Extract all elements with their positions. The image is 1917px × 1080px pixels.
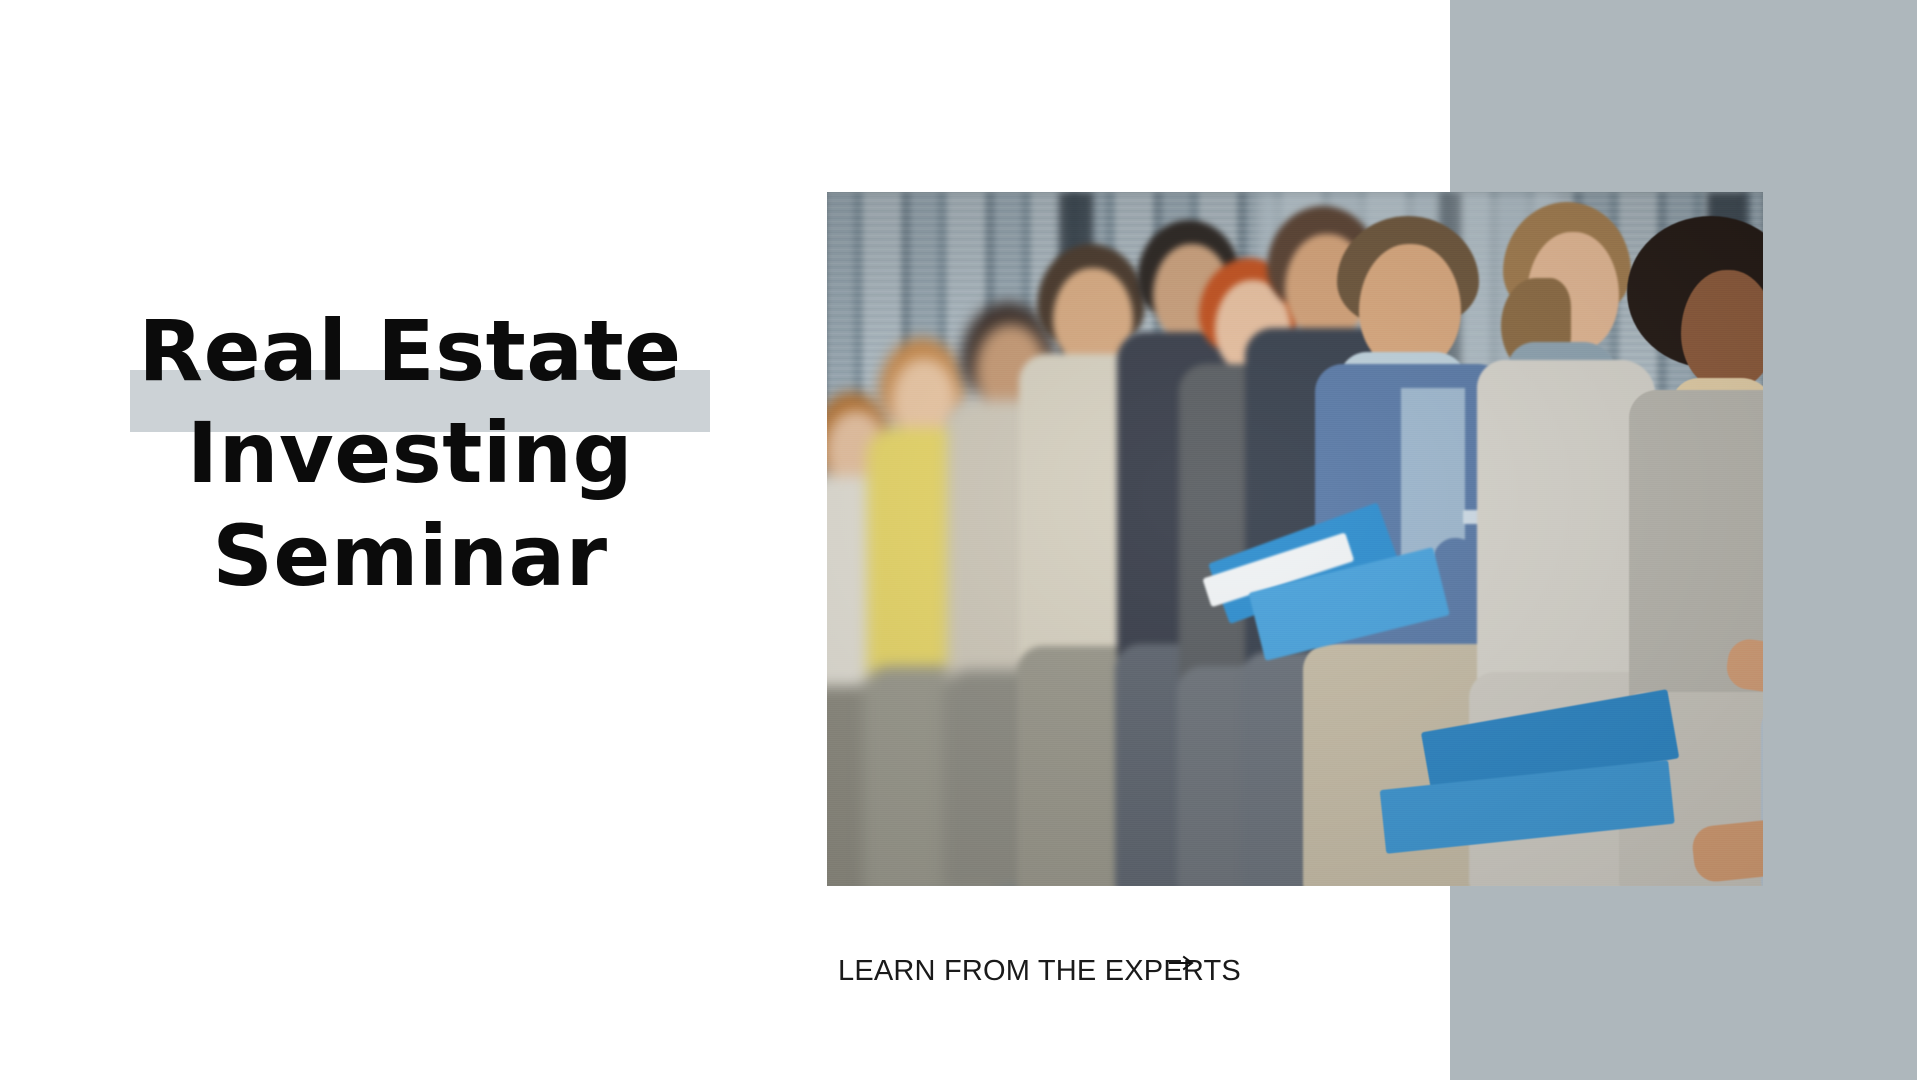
title-area: Real Estate Investing Seminar	[0, 300, 820, 720]
slide-canvas: Real Estate Investing Seminar	[0, 0, 1917, 1080]
caption-text: LEARN FROM THE EXPERTS	[838, 955, 1241, 988]
seminar-audience-photo	[827, 192, 1763, 886]
page-title: Real Estate Investing Seminar	[0, 300, 820, 607]
